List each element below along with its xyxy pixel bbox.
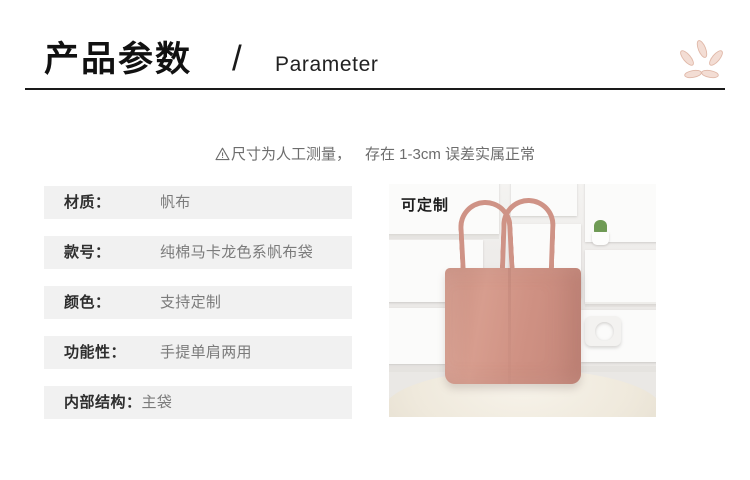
warning-triangle-icon xyxy=(215,147,230,161)
canvas-tote-bag xyxy=(445,268,581,384)
table-row: 款号：纯棉马卡龙色系帆布袋 xyxy=(44,236,352,269)
spec-value-color: 支持定制 xyxy=(160,286,221,319)
shelf-block xyxy=(585,250,656,304)
spec-label-internal-structure: 内部结构： xyxy=(64,386,142,419)
header-divider xyxy=(25,88,725,90)
table-row: 功能性：手提单肩两用 xyxy=(44,336,352,369)
specification-table: 材质：帆布 款号：纯棉马卡龙色系帆布袋 颜色：支持定制 功能性：手提单肩两用 内… xyxy=(44,186,352,419)
status-badge: 可定制 xyxy=(401,197,449,215)
spec-row-content: 功能性：手提单肩两用 xyxy=(64,336,252,369)
spec-label-style-number: 款号： xyxy=(64,236,160,269)
notice-text-primary: 尺寸为人工测量， xyxy=(231,146,351,163)
page-subtitle: Parameter xyxy=(275,53,378,77)
spec-label-color: 颜色： xyxy=(64,286,160,319)
spec-value-style-number: 纯棉马卡龙色系帆布袋 xyxy=(160,236,313,269)
spec-value-material: 帆布 xyxy=(160,186,191,219)
spec-row-content: 颜色：支持定制 xyxy=(64,286,221,319)
flower-icon xyxy=(678,40,726,84)
spec-row-content: 材质：帆布 xyxy=(64,186,191,219)
notice-text-secondary: 存在 1-3cm 误差实属正常 xyxy=(365,146,535,163)
table-row: 颜色：支持定制 xyxy=(44,286,352,319)
table-row: 材质：帆布 xyxy=(44,186,352,219)
shelf-edge xyxy=(585,302,656,307)
title-separator: / xyxy=(232,39,242,79)
page-title: 产品参数 xyxy=(44,40,192,80)
spec-label-material: 材质： xyxy=(64,186,160,219)
page-header: 产品参数 / Parameter xyxy=(0,0,750,100)
bag-handle-right xyxy=(500,197,557,278)
cactus-pot xyxy=(592,232,609,245)
vase-opening xyxy=(595,322,614,341)
table-row: 内部结构：主袋 xyxy=(44,386,352,419)
spec-row-content: 款号：纯棉马卡龙色系帆布袋 xyxy=(64,236,313,269)
measurement-notice: 尺寸为人工测量，存在 1-3cm 误差实属正常 xyxy=(0,144,750,166)
product-image[interactable]: 可定制 xyxy=(389,184,656,417)
spec-value-function: 手提单肩两用 xyxy=(160,336,252,369)
spec-label-function: 功能性： xyxy=(64,336,160,369)
spec-row-content: 内部结构：主袋 xyxy=(64,386,172,419)
product-parameter-page: 产品参数 / Parameter 尺寸为人工测量，存在 1-3cm 误差实属正常… xyxy=(0,0,750,480)
spec-value-internal-structure: 主袋 xyxy=(142,386,173,419)
photo-scene xyxy=(389,184,656,417)
